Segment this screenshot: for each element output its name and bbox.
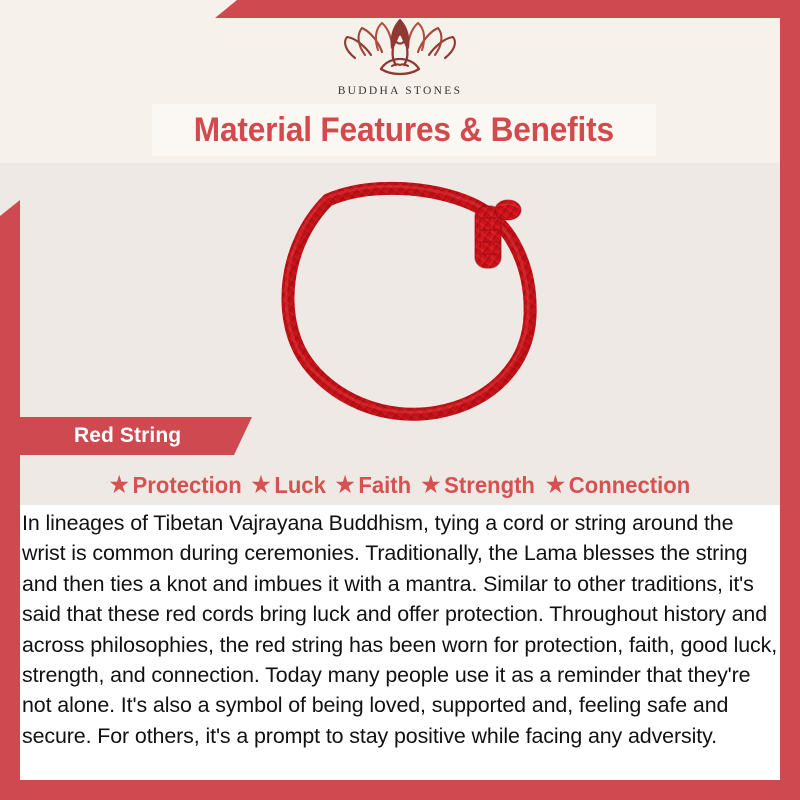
product-image [220,168,580,430]
infographic-page: BUDDHA STONES Material Features & Benefi… [0,0,800,800]
brand-wordmark: BUDDHA STONES [338,85,463,97]
benefit-label: Connection [569,472,690,499]
brand-logo: BUDDHA STONES [0,14,800,97]
benefit-item-strength: ★ Strength [421,472,535,499]
star-icon: ★ [110,474,129,496]
star-icon: ★ [546,474,565,496]
benefit-item-faith: ★ Faith [335,472,411,499]
star-icon: ★ [252,474,271,496]
description-paragraph: In lineages of Tibetan Vajrayana Buddhis… [22,508,778,751]
title-band: Material Features & Benefits [152,104,656,156]
benefit-label: Luck [275,472,327,499]
red-string-bracelet-illustration [220,168,580,430]
knot-tail [495,200,521,220]
benefit-item-connection: ★ Connection [546,472,690,499]
star-icon: ★ [421,474,440,496]
decorative-bar-right [780,0,800,800]
benefit-label: Faith [358,472,411,499]
benefits-list: ★ Protection ★ Luck ★ Faith ★ Strength ★… [0,466,800,504]
benefit-item-luck: ★ Luck [252,472,326,499]
product-label-banner: Red String [0,417,252,455]
star-icon: ★ [335,474,354,496]
benefit-label: Strength [444,472,535,499]
benefit-item-protection: ★ Protection [110,472,242,499]
page-title: Material Features & Benefits [194,111,614,150]
benefit-label: Protection [132,472,241,499]
product-label: Red String [74,424,181,448]
decorative-bar-bottom [0,780,800,800]
lotus-meditation-figure-logo-icon [335,14,465,82]
